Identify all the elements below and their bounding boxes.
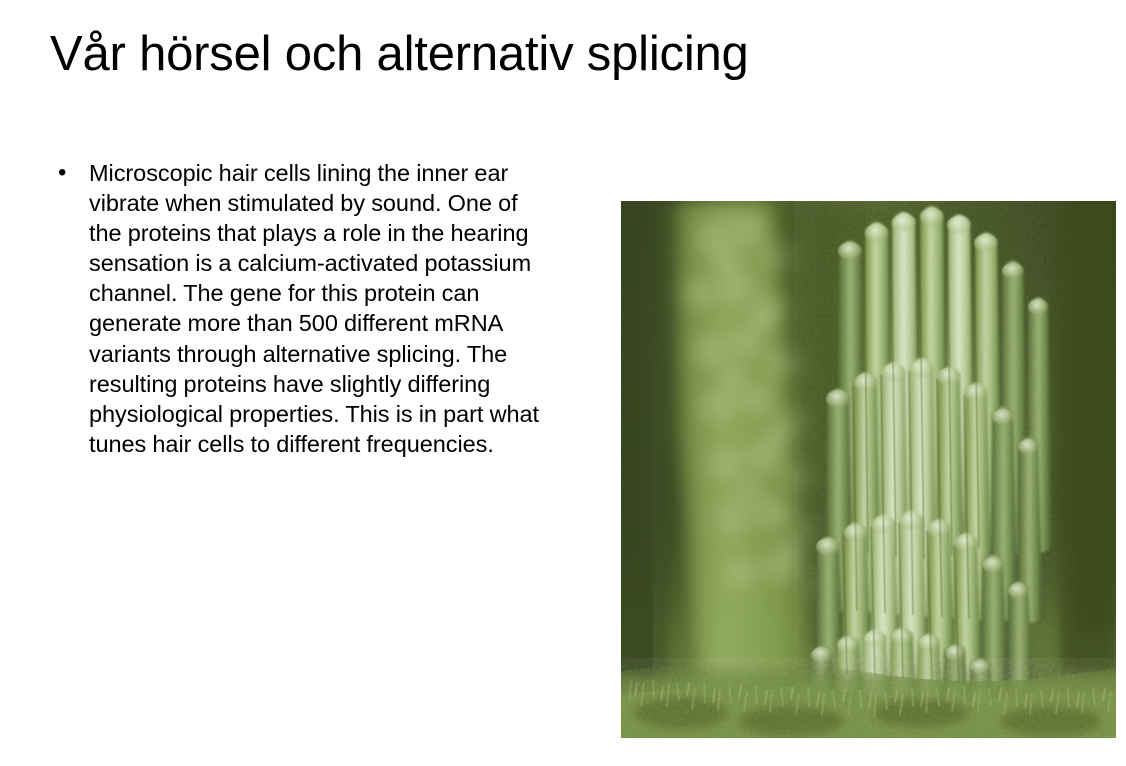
micrograph-artwork bbox=[621, 201, 1116, 738]
presentation-slide: Vår hörsel och alternativ splicing • Mic… bbox=[0, 0, 1126, 766]
list-item: • Microscopic hair cells lining the inne… bbox=[52, 158, 552, 459]
stereocilia-micrograph-image bbox=[621, 201, 1116, 738]
bullet-point-icon: • bbox=[58, 158, 66, 188]
content-placeholder: • Microscopic hair cells lining the inne… bbox=[52, 158, 552, 459]
bullet-item-label: Microscopic hair cells lining the inner … bbox=[89, 158, 552, 459]
page-title: Vår hörsel och alternativ splicing bbox=[50, 24, 1050, 84]
